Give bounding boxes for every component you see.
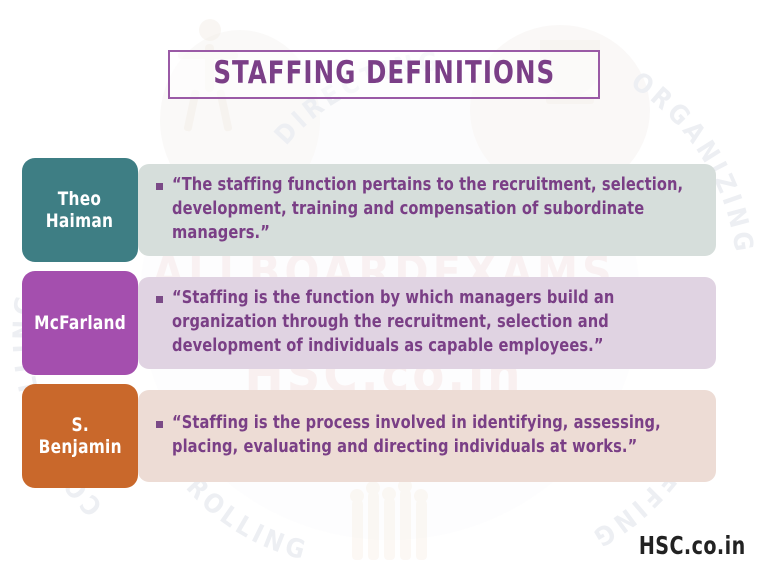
definition-author-name: McFarland bbox=[30, 312, 129, 334]
bullet-icon bbox=[156, 421, 163, 428]
bullet-icon bbox=[156, 296, 163, 303]
page-title: STAFFING DEFINITIONS bbox=[0, 50, 768, 99]
definition-row-mcfarland: “Staffing is the function by which manag… bbox=[0, 271, 768, 375]
definition-quote: “The staffing function pertains to the r… bbox=[172, 174, 702, 246]
slide-canvas: ALLBOARDEXAMS HSC.co.in bbox=[0, 0, 768, 576]
footer-brand: HSC.co.in bbox=[620, 531, 746, 560]
definition-author-name: Theo Haiman bbox=[43, 188, 118, 233]
definition-panel: “Staffing is the function by which manag… bbox=[138, 277, 716, 369]
definition-author-name: S. Benjamin bbox=[35, 414, 125, 459]
definition-row-theo-haiman: “The staffing function pertains to the r… bbox=[0, 158, 768, 262]
definition-panel-inner: “Staffing is the function by which manag… bbox=[138, 287, 756, 359]
author-name-line1: S. bbox=[71, 414, 88, 436]
bullet-icon bbox=[156, 183, 163, 190]
author-name-line2: Benjamin bbox=[38, 436, 121, 458]
author-name-line1: McFarland bbox=[34, 312, 126, 334]
definition-row-s-benjamin: “Staffing is the process involved in ide… bbox=[0, 384, 768, 488]
author-name-line1: Theo bbox=[58, 188, 102, 210]
definition-panel-inner: “The staffing function pertains to the r… bbox=[138, 174, 756, 246]
page-title-text: STAFFING DEFINITIONS bbox=[213, 57, 555, 90]
footer-brand-text: HSC.co.in bbox=[639, 531, 746, 560]
definition-panel: “The staffing function pertains to the r… bbox=[138, 164, 716, 256]
definition-quote: “Staffing is the process involved in ide… bbox=[172, 412, 702, 460]
definition-quote: “Staffing is the function by which manag… bbox=[172, 287, 702, 359]
page-title-box: STAFFING DEFINITIONS bbox=[168, 50, 601, 99]
definition-panel: “Staffing is the process involved in ide… bbox=[138, 390, 716, 482]
definition-author-chip[interactable]: S. Benjamin bbox=[22, 384, 138, 488]
definition-panel-inner: “Staffing is the process involved in ide… bbox=[138, 412, 756, 460]
definition-author-chip[interactable]: Theo Haiman bbox=[22, 158, 138, 262]
definitions-list: “The staffing function pertains to the r… bbox=[0, 158, 768, 497]
author-name-line2: Haiman bbox=[46, 210, 114, 232]
definition-author-chip[interactable]: McFarland bbox=[22, 271, 138, 375]
